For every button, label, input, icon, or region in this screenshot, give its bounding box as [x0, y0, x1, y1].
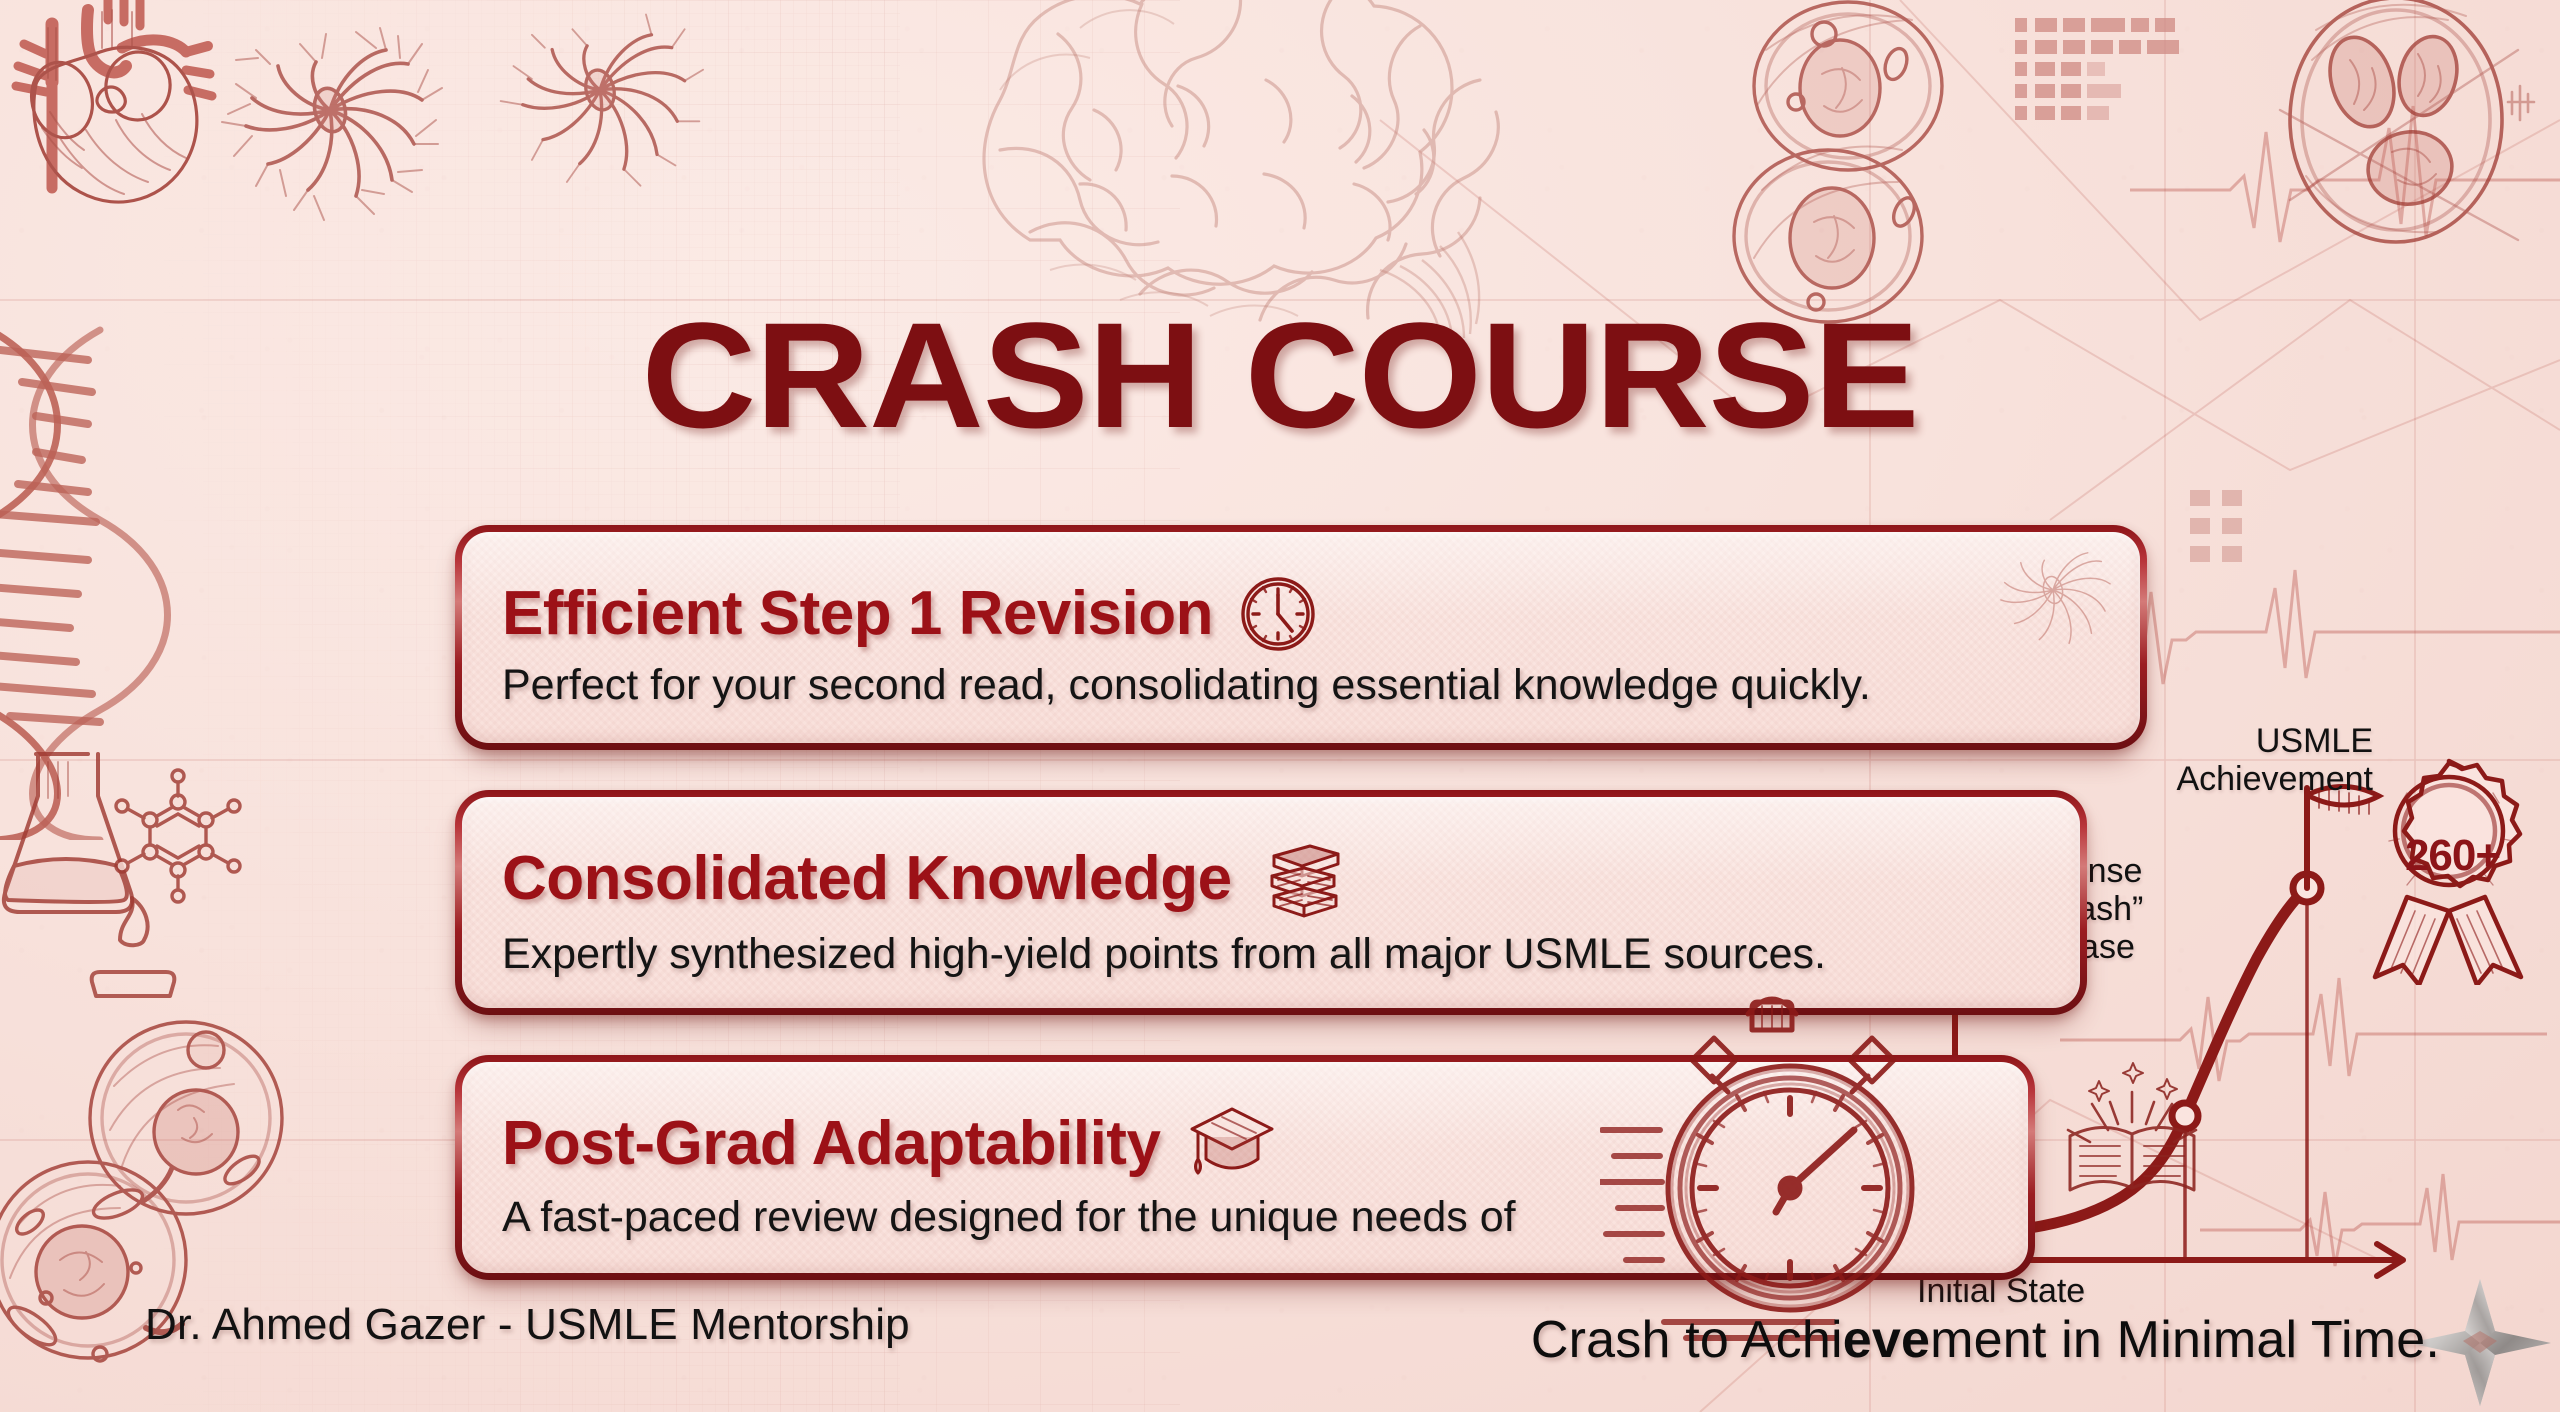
chart-label-achievement: USMLE Achievement — [2176, 722, 2373, 798]
books-stack-icon — [1258, 836, 1344, 922]
blood-cell-illustration — [2250, 0, 2540, 290]
author-credit: Dr. Ahmed Gazer - USMLE Mentorship — [145, 1300, 910, 1350]
poster-canvas: USMLE Achievement Intense “Crash” Phase … — [0, 0, 2560, 1412]
feature-card-subtext: Expertly synthesized high-yield points f… — [502, 930, 2040, 978]
feature-card-efficient-revision[interactable]: Efficient Step 1 Revision Perfect for yo… — [455, 525, 2147, 750]
feature-card-heading-text: Consolidated Knowledge — [502, 847, 1232, 911]
open-book-sparkle-illustration — [2060, 1040, 2210, 1200]
page-title: CRASH COURSE — [0, 300, 2560, 450]
graduation-cap-icon — [1186, 1103, 1278, 1185]
feature-card-heading-text: Post-Grad Adaptability — [502, 1112, 1160, 1176]
tagline: Crash to Achievement in Minimal Time. — [1531, 1310, 2440, 1370]
award-ribbon-badge: 260+ — [2345, 755, 2560, 985]
feature-card-inner: Efficient Step 1 Revision Perfect for yo… — [462, 532, 2140, 743]
feature-card-heading-text: Efficient Step 1 Revision — [502, 582, 1213, 646]
molecule-benzene-illustration — [116, 770, 240, 902]
cell-division-illustration — [0, 1010, 320, 1410]
tagline-emphasis: eve — [1843, 1311, 1930, 1369]
tagline-prefix: Crash to Achi — [1531, 1311, 1843, 1369]
neuron-illustration — [210, 0, 770, 280]
stopwatch-illustration — [1600, 980, 1940, 1360]
feature-card-inner: Consolidated Knowledge — [462, 797, 2080, 1008]
anatomical-heart-illustration — [0, 0, 240, 238]
feature-card-heading: Consolidated Knowledge — [502, 836, 2040, 922]
cell-mitosis-illustration — [1700, 0, 2000, 340]
feature-card-heading: Efficient Step 1 Revision — [502, 575, 2100, 653]
badge-score-text: 260+ — [2345, 831, 2560, 881]
erlenmeyer-flask-illustration — [0, 740, 320, 1040]
data-blocks-pattern-small — [2190, 490, 2280, 600]
clock-icon — [1239, 575, 1317, 653]
tagline-suffix: ment in Minimal Time. — [1930, 1311, 2440, 1369]
neuron-illustration-small — [1965, 520, 2145, 690]
data-blocks-pattern — [2015, 16, 2195, 136]
feature-card-subtext: Perfect for your second read, consolidat… — [502, 661, 2100, 709]
